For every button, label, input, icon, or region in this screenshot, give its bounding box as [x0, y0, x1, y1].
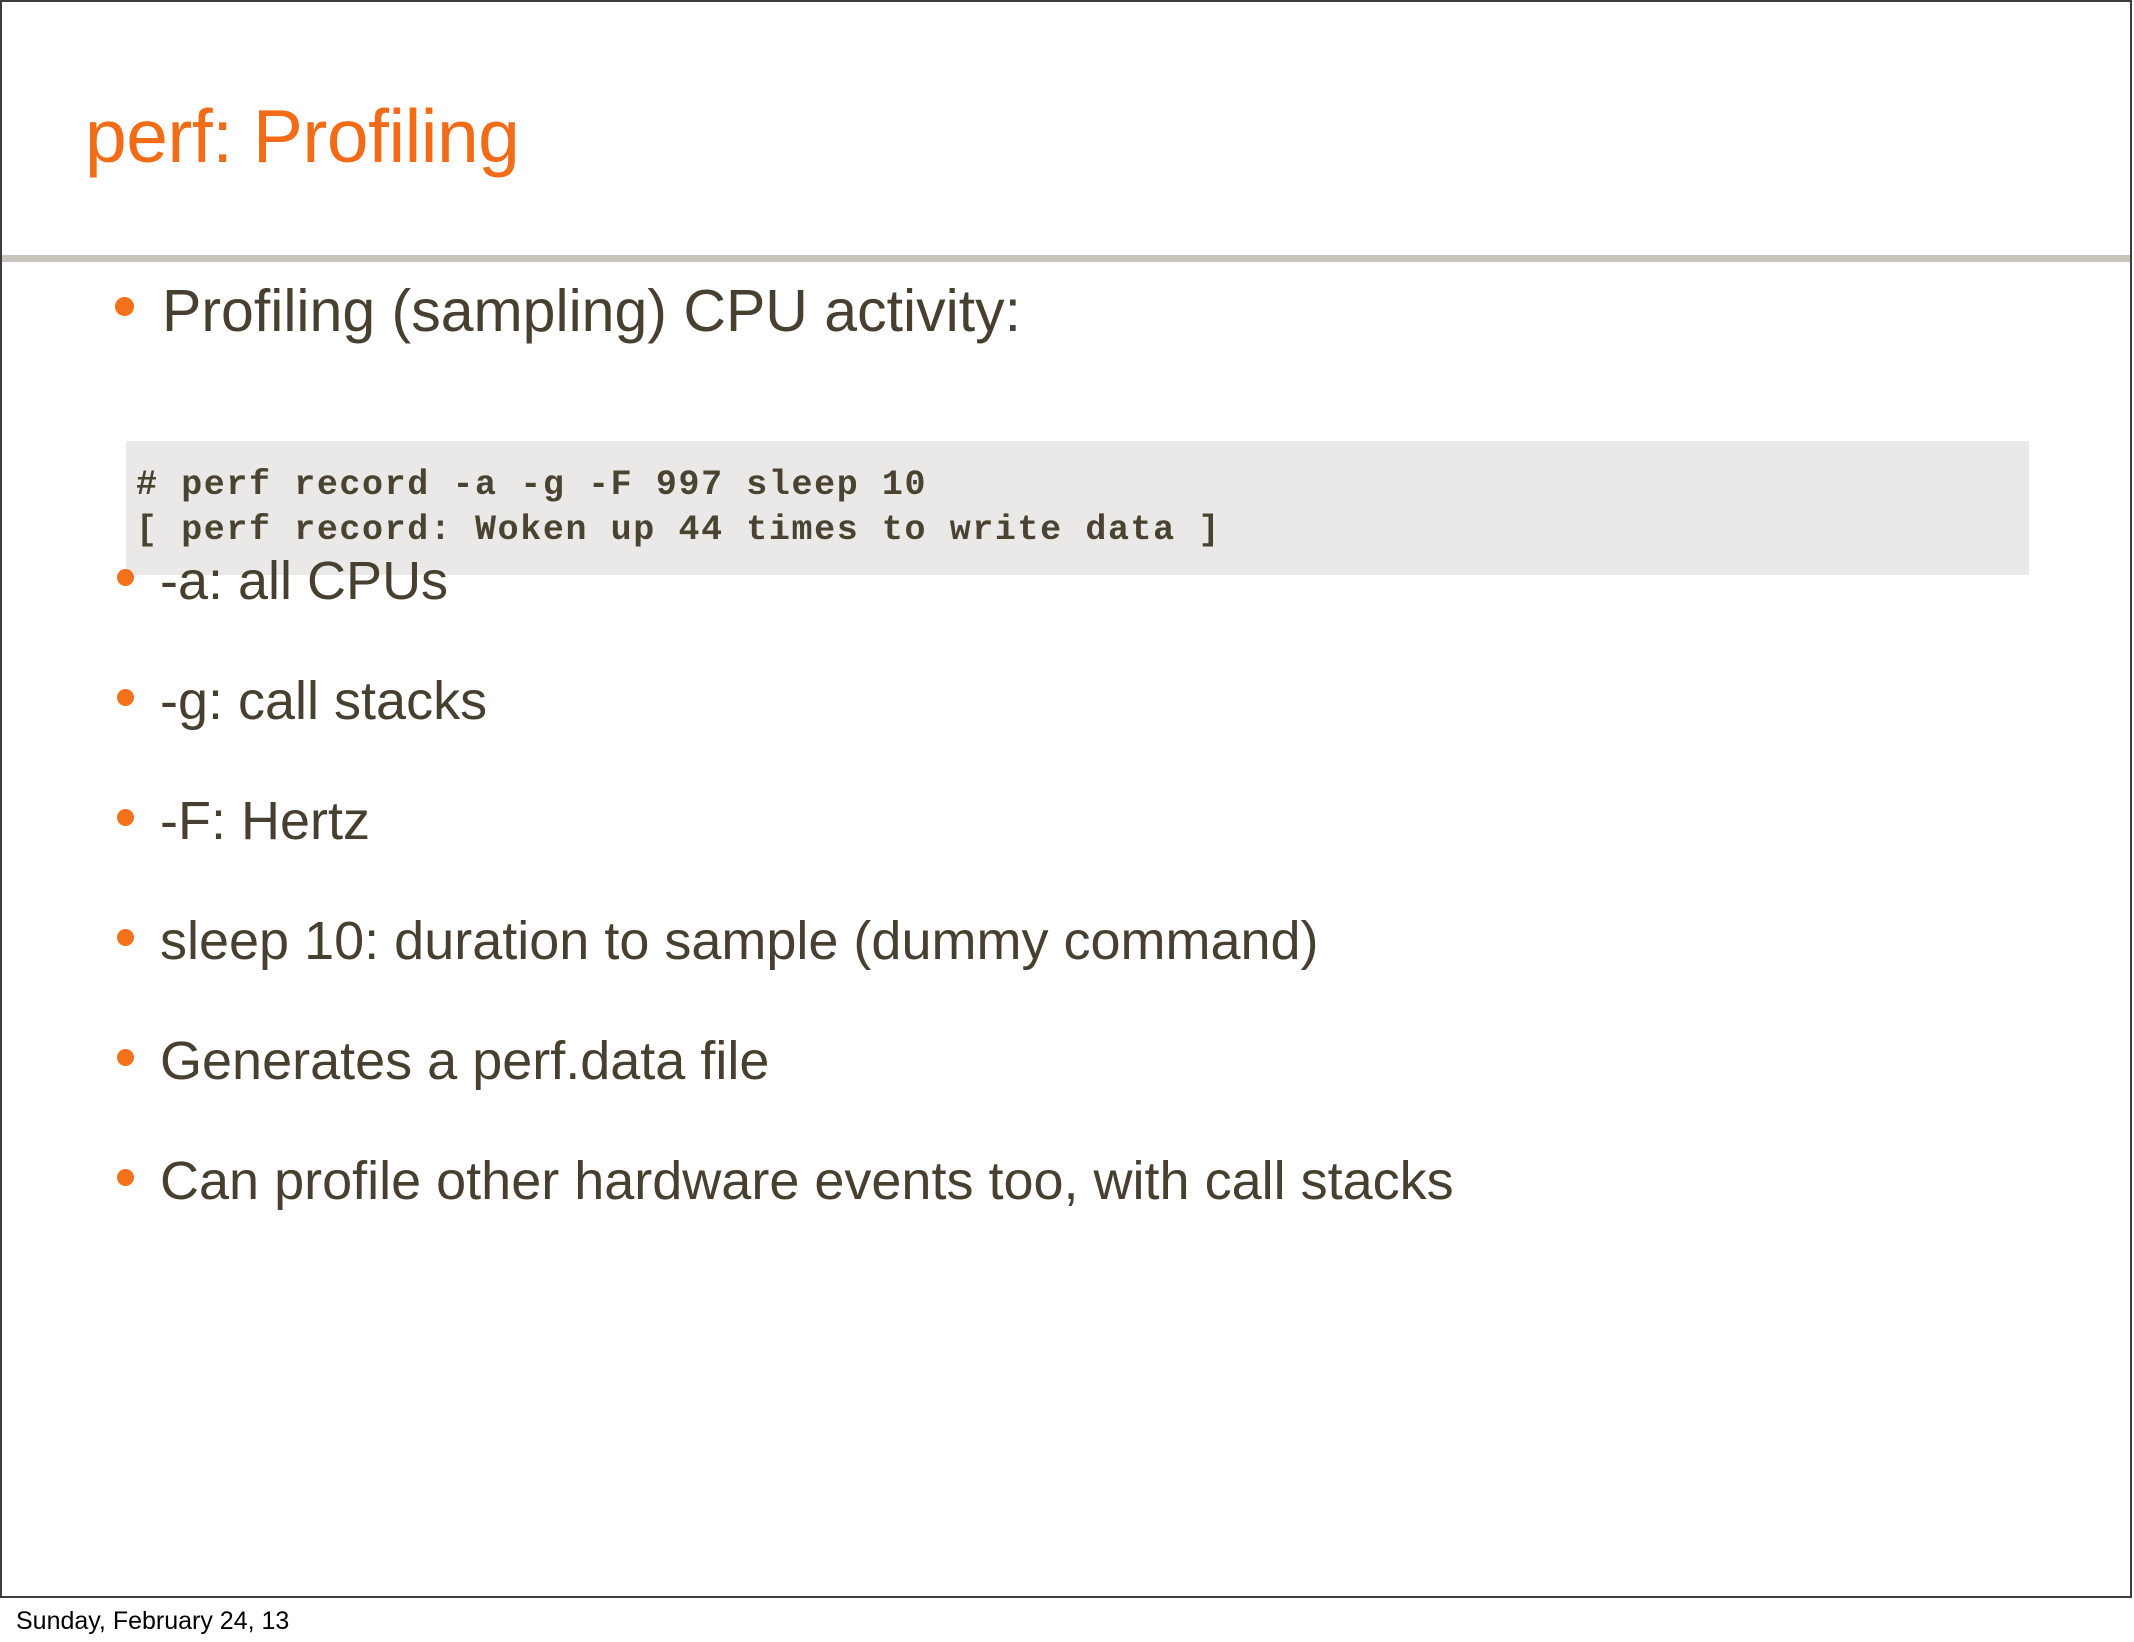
bullet-dot-icon [117, 809, 134, 826]
page-title: perf: Profiling [85, 90, 519, 182]
slide-body: Profiling (sampling) CPU activity: # per… [2, 262, 2130, 1592]
header-divider [2, 255, 2130, 262]
list-item: Can profile other hardware events too, w… [117, 1149, 1454, 1213]
list-item-label: -a: all CPUs [160, 549, 448, 613]
list-item: sleep 10: duration to sample (dummy comm… [117, 909, 1319, 973]
list-item: -a: all CPUs [117, 549, 448, 613]
list-item-label: sleep 10: duration to sample (dummy comm… [160, 909, 1319, 973]
code-block-text: # perf record -a -g -F 997 sleep 10 [ pe… [136, 463, 2029, 553]
footer-date: Sunday, February 24, 13 [16, 1606, 289, 1636]
slide-canvas: perf: Profiling Profiling (sampling) CPU… [0, 0, 2132, 1598]
bullet-dot-icon [117, 929, 134, 946]
list-item-label: -g: call stacks [160, 669, 487, 733]
bullet-dot-icon [115, 297, 134, 316]
list-item-label: Profiling (sampling) CPU activity: [162, 276, 1021, 346]
bullet-dot-icon [117, 1049, 134, 1066]
list-item: Generates a perf.data file [117, 1029, 769, 1093]
list-item-label: Can profile other hardware events too, w… [160, 1149, 1454, 1213]
bullet-dot-icon [117, 1169, 134, 1186]
list-item: -F: Hertz [117, 789, 370, 853]
list-item-label: -F: Hertz [160, 789, 370, 853]
list-item: -g: call stacks [117, 669, 487, 733]
list-item-label: Generates a perf.data file [160, 1029, 769, 1093]
list-item: Profiling (sampling) CPU activity: [115, 276, 1021, 346]
bullet-dot-icon [117, 569, 134, 586]
bullet-dot-icon [117, 689, 134, 706]
